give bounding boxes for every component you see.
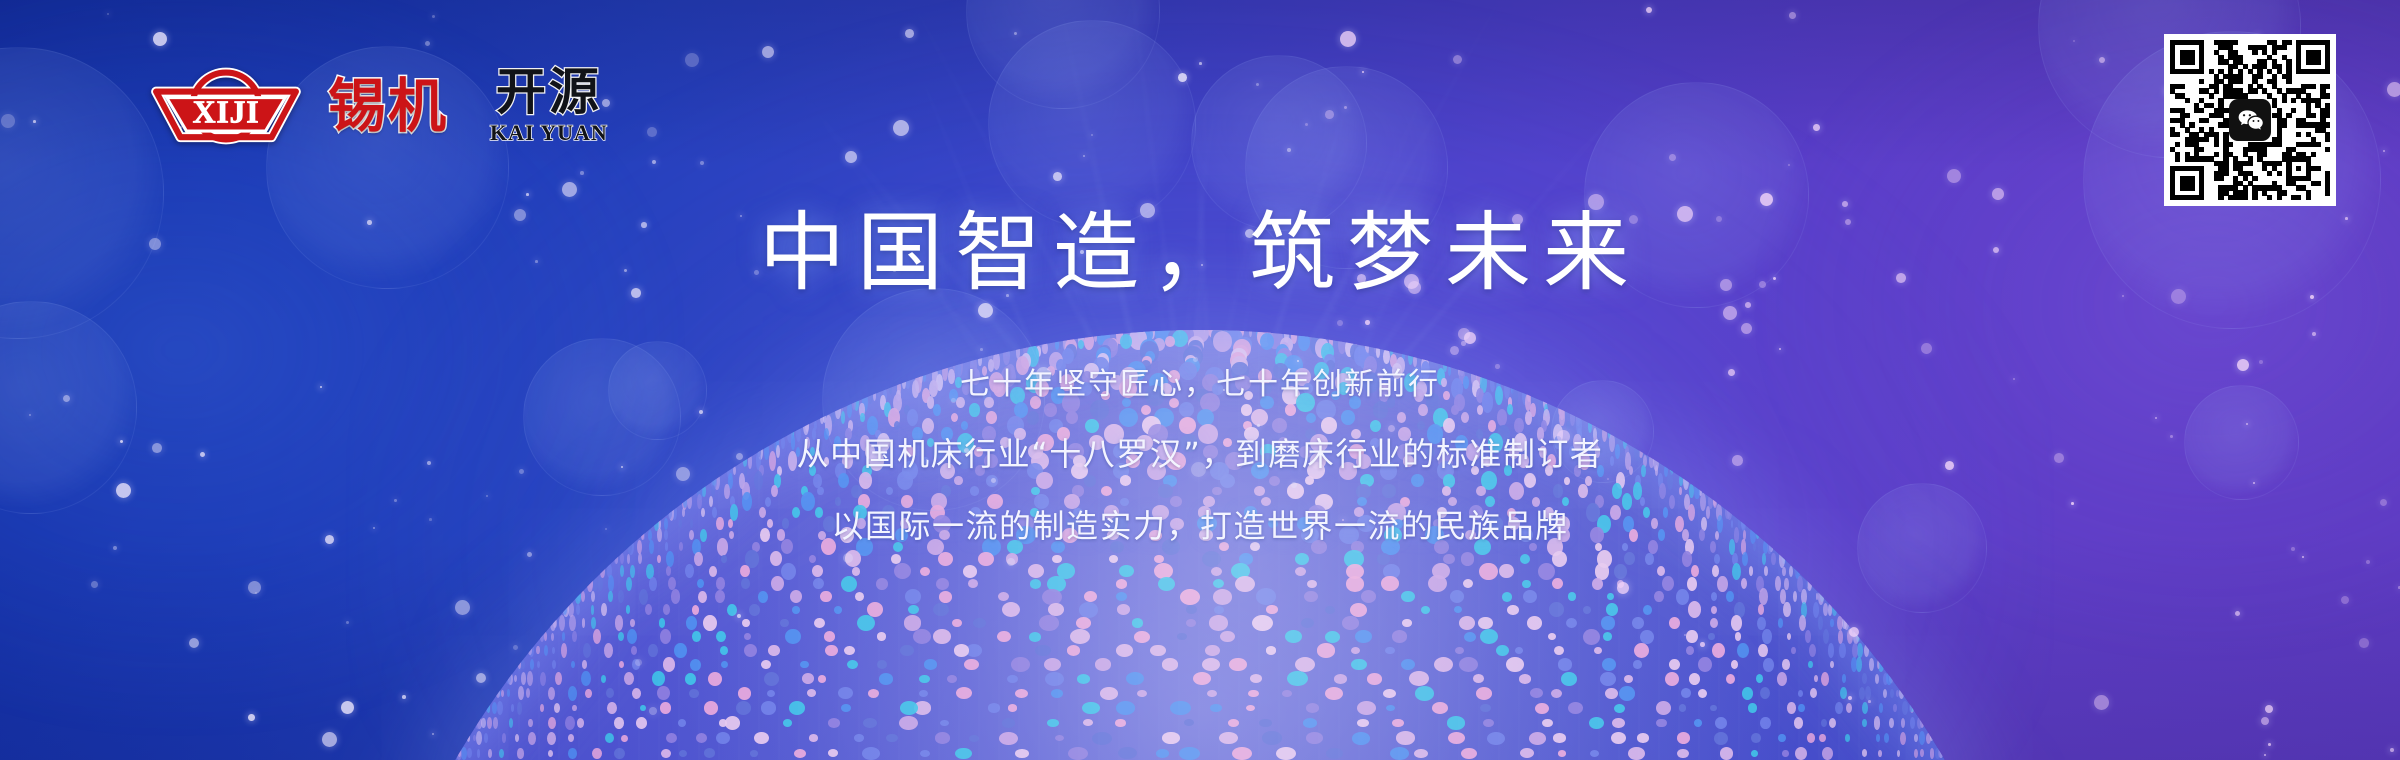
particle-dot xyxy=(1646,7,1652,13)
particle-dot xyxy=(1848,696,1852,700)
particle-dot xyxy=(2235,611,2240,616)
particle-dot xyxy=(2264,754,2266,756)
banner-copy: 中国智造，筑梦未来 七十年坚守匠心，七十年创新前行 从中国机床行业“十八罗汉”，… xyxy=(0,206,2400,547)
particle-dot xyxy=(1199,62,1202,65)
particle-dot xyxy=(1340,31,1356,47)
particle-dot xyxy=(1992,188,2004,200)
particle-dot xyxy=(1007,558,1015,566)
particle-dot xyxy=(845,151,857,163)
particle-dot xyxy=(33,120,36,123)
particle-dot xyxy=(562,182,577,197)
particle-dot xyxy=(189,638,199,648)
particle-dot xyxy=(432,15,435,18)
particle-dot xyxy=(2302,556,2304,558)
subtitle-line-1: 七十年坚守匠心，七十年创新前行 xyxy=(0,359,2400,403)
particle-dot xyxy=(1684,634,1686,636)
particle-dot xyxy=(1325,110,1334,119)
bokeh-circle xyxy=(988,20,1196,228)
particle-dot xyxy=(1178,73,1187,82)
particle-dot xyxy=(527,552,532,557)
particle-dot xyxy=(346,621,349,624)
particle-dot xyxy=(1868,700,1871,703)
particle-dot xyxy=(255,592,257,594)
particle-dot xyxy=(737,614,741,618)
sub-brand: 开源 KAI YUAN xyxy=(490,67,608,146)
particle-dot xyxy=(476,673,486,683)
particle-dot xyxy=(2390,748,2394,752)
particle-dot xyxy=(107,13,109,15)
sub-brand-cn: 开源 xyxy=(496,67,602,118)
particle-dot xyxy=(455,600,470,615)
particle-dot xyxy=(1760,193,1773,206)
promo-banner: XIJI 锡机 开源 KAI YUAN 中国智造，筑梦未来 七十年坚守匠心，七十… xyxy=(0,0,2400,760)
particle-dot xyxy=(2387,82,2400,97)
particle-dot xyxy=(425,41,430,46)
particle-dot xyxy=(1947,169,1961,183)
particle-dot xyxy=(2265,705,2273,713)
particle-dot xyxy=(1617,582,1629,594)
svg-text:XIJI: XIJI xyxy=(193,95,260,130)
particle-dot xyxy=(2291,547,2295,551)
particle-dot xyxy=(893,120,909,136)
wechat-icon xyxy=(2229,99,2271,141)
particle-dot xyxy=(1287,148,1291,152)
qr-module-grid xyxy=(2170,40,2330,200)
subtitle-line-3: 以国际一流的制造实力，打造世界一流的民族品牌 xyxy=(0,501,2400,547)
particle-dot xyxy=(2268,743,2271,746)
particle-dot xyxy=(248,714,255,721)
particle-dot xyxy=(526,193,529,196)
particle-dot xyxy=(1849,627,1859,637)
particle-dot xyxy=(1669,154,1676,161)
particle-dot xyxy=(1789,12,1796,19)
particle-dot xyxy=(647,127,657,137)
subtitle-line-2: 从中国机床行业“十八罗汉”，到磨床行业的标准制订者 xyxy=(0,429,2400,475)
particle-dot xyxy=(91,581,98,588)
particle-dot xyxy=(432,733,434,735)
brand-logo[interactable]: XIJI 锡机 开源 KAI YUAN xyxy=(150,64,608,148)
particle-dot xyxy=(685,53,699,67)
particle-dot xyxy=(402,695,406,699)
particle-dot xyxy=(2094,695,2109,710)
particle-dot xyxy=(580,171,584,175)
particle-dot xyxy=(1453,55,1462,64)
particle-dot xyxy=(513,645,518,650)
particle-dot xyxy=(762,46,774,58)
particle-dot xyxy=(2359,638,2369,648)
particle-dot xyxy=(635,659,642,666)
particle-dot xyxy=(322,732,337,747)
particle-dot xyxy=(341,701,354,714)
particle-dot xyxy=(652,160,656,164)
wechat-qr-code[interactable] xyxy=(2164,34,2336,206)
particle-dot xyxy=(1700,642,1705,647)
sub-brand-en: KAI YUAN xyxy=(490,120,608,146)
particle-dot xyxy=(1,114,15,128)
brand-name-cn: 锡机 xyxy=(328,77,448,135)
particle-dot xyxy=(649,707,657,715)
particle-dot xyxy=(700,161,704,165)
particle-dot xyxy=(1813,124,1820,131)
particle-dot xyxy=(1053,172,1062,181)
particle-dot xyxy=(905,29,914,38)
particle-dot xyxy=(2383,150,2385,152)
particle-dot xyxy=(2261,717,2269,725)
particle-dot xyxy=(1344,106,1347,109)
particle-dot xyxy=(843,553,853,563)
particle-dot xyxy=(153,32,167,46)
particle-dot xyxy=(1788,164,1790,166)
page-title: 中国智造，筑梦未来 xyxy=(0,206,2400,301)
particle-dot xyxy=(2366,560,2370,564)
xiji-emblem-icon: XIJI xyxy=(150,64,302,148)
particle-dot xyxy=(2341,596,2349,604)
